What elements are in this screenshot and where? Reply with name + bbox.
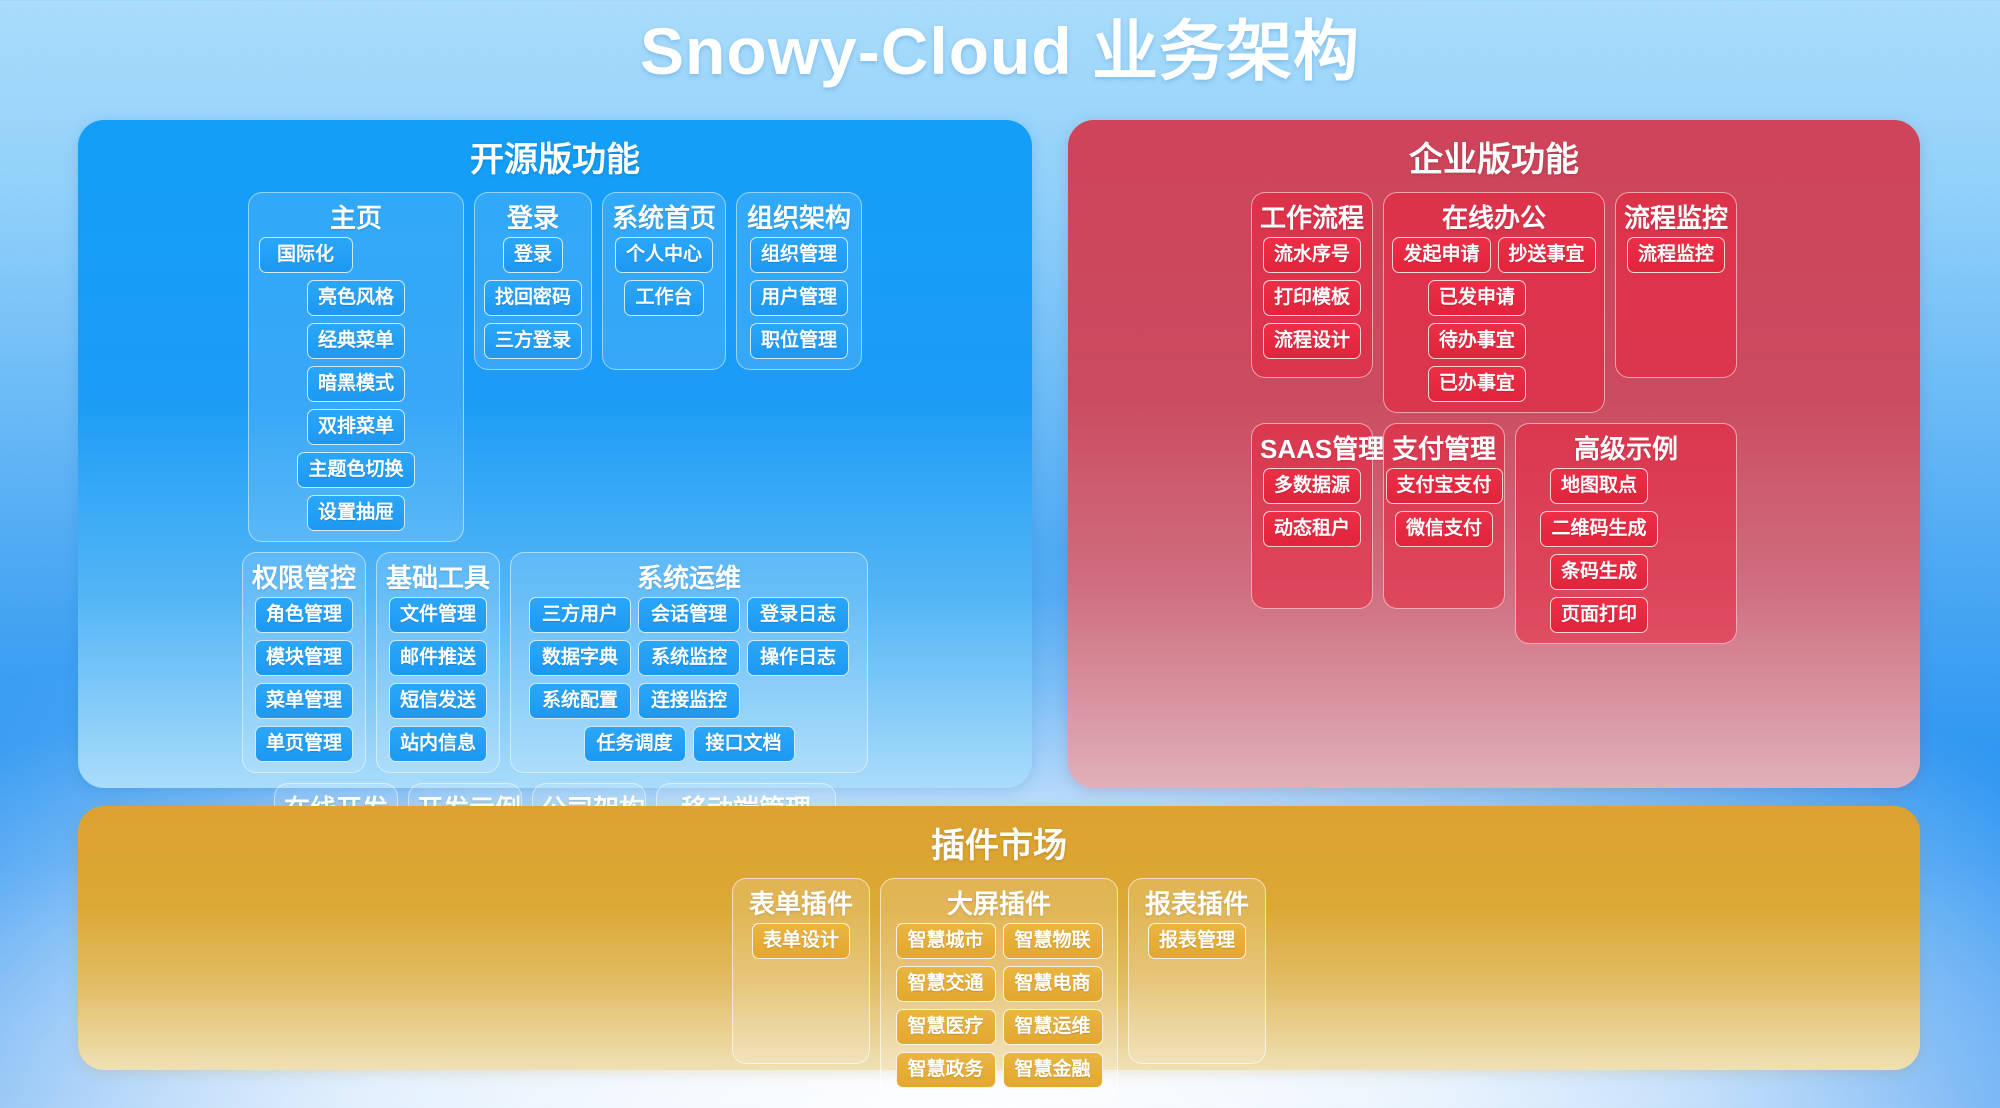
feature-chip[interactable]: 单页管理 [255,726,353,762]
feature-chip[interactable]: 经典菜单 [307,323,405,359]
group-title: 报表插件 [1137,885,1257,923]
group-card-system-home[interactable]: 系统首页 个人中心 工作台 [602,192,726,370]
group-title: 系统运维 [519,559,859,597]
group-title: 组织架构 [745,199,853,237]
group-card-process-monitor[interactable]: 流程监控 流程监控 [1615,192,1737,378]
group-items: 国际化 亮色风格 经典菜单 暗黑模式 双排菜单 主题色切换 设置抽屉 [257,237,455,531]
group-card-report-plugin[interactable]: 报表插件 报表管理 [1128,878,1266,1064]
feature-chip[interactable]: 报表管理 [1148,923,1246,959]
feature-chip[interactable]: 找回密码 [484,280,582,316]
architecture-diagram: Snowy-Cloud 业务架构 开源版功能 主页 国际化 亮色风格 经典菜单 … [0,0,2000,1108]
feature-chip[interactable]: 系统监控 [638,640,740,676]
group-items: 表单设计 [741,923,861,959]
group-items: 流程监控 [1624,237,1728,273]
group-card-online-office[interactable]: 在线办公 发起申请 抄送事宜 已发申请 待办事宜 已办事宜 [1383,192,1605,413]
feature-chip[interactable]: 三方登录 [484,323,582,359]
group-title: 高级示例 [1524,430,1728,468]
group-card-bigscreen-plugin[interactable]: 大屏插件 智慧城市 智慧物联 智慧交通 智慧电商 智慧医疗 智慧运维 智慧政务 … [880,878,1118,1099]
group-title: 大屏插件 [889,885,1109,923]
group-card-basic-tools[interactable]: 基础工具 文件管理 邮件推送 短信发送 站内信息 [376,552,500,773]
feature-chip[interactable]: 智慧运维 [1003,1009,1103,1045]
group-card-home[interactable]: 主页 国际化 亮色风格 经典菜单 暗黑模式 双排菜单 主题色切换 设置抽屉 [248,192,464,542]
group-title: 支付管理 [1392,430,1496,468]
feature-chip[interactable]: 文件管理 [389,597,487,633]
feature-chip[interactable]: 动态租户 [1263,511,1361,547]
feature-chip[interactable]: 智慧城市 [896,923,996,959]
group-items: 文件管理 邮件推送 短信发送 站内信息 [385,597,491,762]
feature-chip[interactable]: 设置抽屉 [307,495,405,531]
group-items: 组织管理 用户管理 职位管理 [745,237,853,359]
feature-chip[interactable]: 主题色切换 [297,452,414,488]
feature-chip[interactable]: 智慧金融 [1003,1052,1103,1088]
group-card-workflow[interactable]: 工作流程 流水序号 打印模板 流程设计 [1251,192,1373,378]
plugin-market-panel: 插件市场 表单插件 表单设计 大屏插件 智慧城市 智慧物联 智慧交通 智慧电商 … [78,806,1920,1070]
feature-chip[interactable]: 支付宝支付 [1386,468,1503,504]
group-title: 基础工具 [385,559,491,597]
feature-chip[interactable]: 菜单管理 [255,683,353,719]
feature-chip[interactable]: 操作日志 [747,640,849,676]
group-card-form-plugin[interactable]: 表单插件 表单设计 [732,878,870,1064]
group-items: 多数据源 动态租户 [1260,468,1364,547]
feature-chip[interactable]: 智慧医疗 [896,1009,996,1045]
feature-chip[interactable]: 数据字典 [529,640,631,676]
feature-chip[interactable]: 流程监控 [1627,237,1725,273]
group-card-system-ops[interactable]: 系统运维 三方用户 会话管理 登录日志 数据字典 系统监控 操作日志 系统配置 … [510,552,868,773]
group-card-payment[interactable]: 支付管理 支付宝支付 微信支付 [1383,423,1505,609]
open-source-panel-title: 开源版功能 [96,134,1014,186]
feature-chip[interactable]: 微信支付 [1395,511,1493,547]
feature-chip[interactable]: 国际化 [259,237,353,273]
group-items: 支付宝支付 微信支付 [1392,468,1496,547]
page-title: Snowy-Cloud 业务架构 [0,8,2000,94]
group-items: 发起申请 抄送事宜 已发申请 待办事宜 已办事宜 [1392,237,1596,402]
feature-chip[interactable]: 职位管理 [750,323,848,359]
group-title: 工作流程 [1260,199,1364,237]
group-items: 智慧城市 智慧物联 智慧交通 智慧电商 智慧医疗 智慧运维 智慧政务 智慧金融 [889,923,1109,1088]
feature-chip[interactable]: 智慧电商 [1003,966,1103,1002]
feature-chip[interactable]: 页面打印 [1550,597,1648,633]
feature-chip[interactable]: 表单设计 [752,923,850,959]
group-items: 报表管理 [1137,923,1257,959]
feature-chip[interactable]: 模块管理 [255,640,353,676]
feature-chip[interactable]: 条码生成 [1550,554,1648,590]
group-card-login[interactable]: 登录 登录 找回密码 三方登录 [474,192,592,370]
feature-chip[interactable]: 打印模板 [1263,280,1361,316]
feature-chip[interactable]: 登录日志 [747,597,849,633]
feature-chip[interactable]: 会话管理 [638,597,740,633]
group-card-advanced-demo[interactable]: 高级示例 地图取点 二维码生成 条码生成 页面打印 [1515,423,1737,644]
feature-chip[interactable]: 系统配置 [529,683,631,719]
feature-chip[interactable]: 邮件推送 [389,640,487,676]
group-title: 权限管控 [251,559,357,597]
feature-chip[interactable]: 双排菜单 [307,409,405,445]
enterprise-panel-title: 企业版功能 [1086,134,1902,186]
feature-chip[interactable]: 任务调度 [584,726,686,762]
feature-chip[interactable]: 待办事宜 [1428,323,1526,359]
group-items: 三方用户 会话管理 登录日志 数据字典 系统监控 操作日志 系统配置 连接监控 … [519,597,859,762]
group-card-org-structure[interactable]: 组织架构 组织管理 用户管理 职位管理 [736,192,862,370]
open-source-row-1: 主页 国际化 亮色风格 经典菜单 暗黑模式 双排菜单 主题色切换 设置抽屉 登录 [96,192,1014,542]
feature-chip[interactable]: 站内信息 [389,726,487,762]
feature-chip[interactable]: 多数据源 [1263,468,1361,504]
feature-chip[interactable]: 智慧政务 [896,1052,996,1088]
feature-chip[interactable]: 个人中心 [615,237,713,273]
group-title: 登录 [483,199,583,237]
feature-chip[interactable]: 接口文档 [693,726,795,762]
enterprise-rows: 工作流程 流水序号 打印模板 流程设计 在线办公 发起申请 抄送事宜 已发申请 [1086,192,1902,644]
open-source-panel: 开源版功能 主页 国际化 亮色风格 经典菜单 暗黑模式 双排菜单 主题色切换 设… [78,120,1032,788]
group-items: 地图取点 二维码生成 条码生成 页面打印 [1524,468,1674,633]
feature-chip[interactable]: 用户管理 [750,280,848,316]
group-title: 流程监控 [1624,199,1728,237]
feature-chip[interactable]: 连接监控 [638,683,740,719]
feature-chip[interactable]: 暗黑模式 [307,366,405,402]
plugin-market-panel-title: 插件市场 [96,820,1902,872]
group-items: 流水序号 打印模板 流程设计 [1260,237,1364,359]
feature-chip[interactable]: 已办事宜 [1428,366,1526,402]
feature-chip[interactable]: 已发申请 [1428,280,1526,316]
feature-chip[interactable]: 发起申请 [1392,237,1490,273]
group-title: 主页 [257,199,455,237]
group-items: 角色管理 模块管理 菜单管理 单页管理 [251,597,357,762]
open-source-row-2: 权限管控 角色管理 模块管理 菜单管理 单页管理 基础工具 文件管理 邮件推送 … [96,552,1014,773]
feature-chip[interactable]: 三方用户 [529,597,631,633]
feature-chip[interactable]: 地图取点 [1550,468,1648,504]
plugin-market-row: 表单插件 表单设计 大屏插件 智慧城市 智慧物联 智慧交通 智慧电商 智慧医疗 … [96,878,1902,1099]
feature-chip[interactable]: 流程设计 [1263,323,1361,359]
feature-chip[interactable]: 抄送事宜 [1498,237,1596,273]
feature-chip[interactable]: 登录 [503,237,563,273]
group-title: 表单插件 [741,885,861,923]
feature-chip[interactable]: 亮色风格 [307,280,405,316]
group-items: 个人中心 工作台 [611,237,717,316]
group-items: 登录 找回密码 三方登录 [483,237,583,359]
feature-chip[interactable]: 组织管理 [750,237,848,273]
feature-chip[interactable]: 流水序号 [1263,237,1361,273]
group-title: 系统首页 [611,199,717,237]
group-title: 在线办公 [1392,199,1596,237]
feature-chip[interactable]: 工作台 [624,280,703,316]
feature-chip[interactable]: 智慧交通 [896,966,996,1002]
feature-chip[interactable]: 角色管理 [255,597,353,633]
enterprise-row-2: SAAS管理 多数据源 动态租户 支付管理 支付宝支付 微信支付 高级示例 [1086,423,1902,644]
feature-chip[interactable]: 二维码生成 [1540,511,1657,547]
enterprise-panel: 企业版功能 工作流程 流水序号 打印模板 流程设计 在线办公 发起申请 抄送事宜 [1068,120,1920,788]
group-title: SAAS管理 [1260,430,1364,468]
feature-chip[interactable]: 智慧物联 [1003,923,1103,959]
enterprise-row-1: 工作流程 流水序号 打印模板 流程设计 在线办公 发起申请 抄送事宜 已发申请 [1086,192,1902,413]
group-card-saas[interactable]: SAAS管理 多数据源 动态租户 [1251,423,1373,609]
feature-chip[interactable]: 短信发送 [389,683,487,719]
group-card-permission[interactable]: 权限管控 角色管理 模块管理 菜单管理 单页管理 [242,552,366,773]
